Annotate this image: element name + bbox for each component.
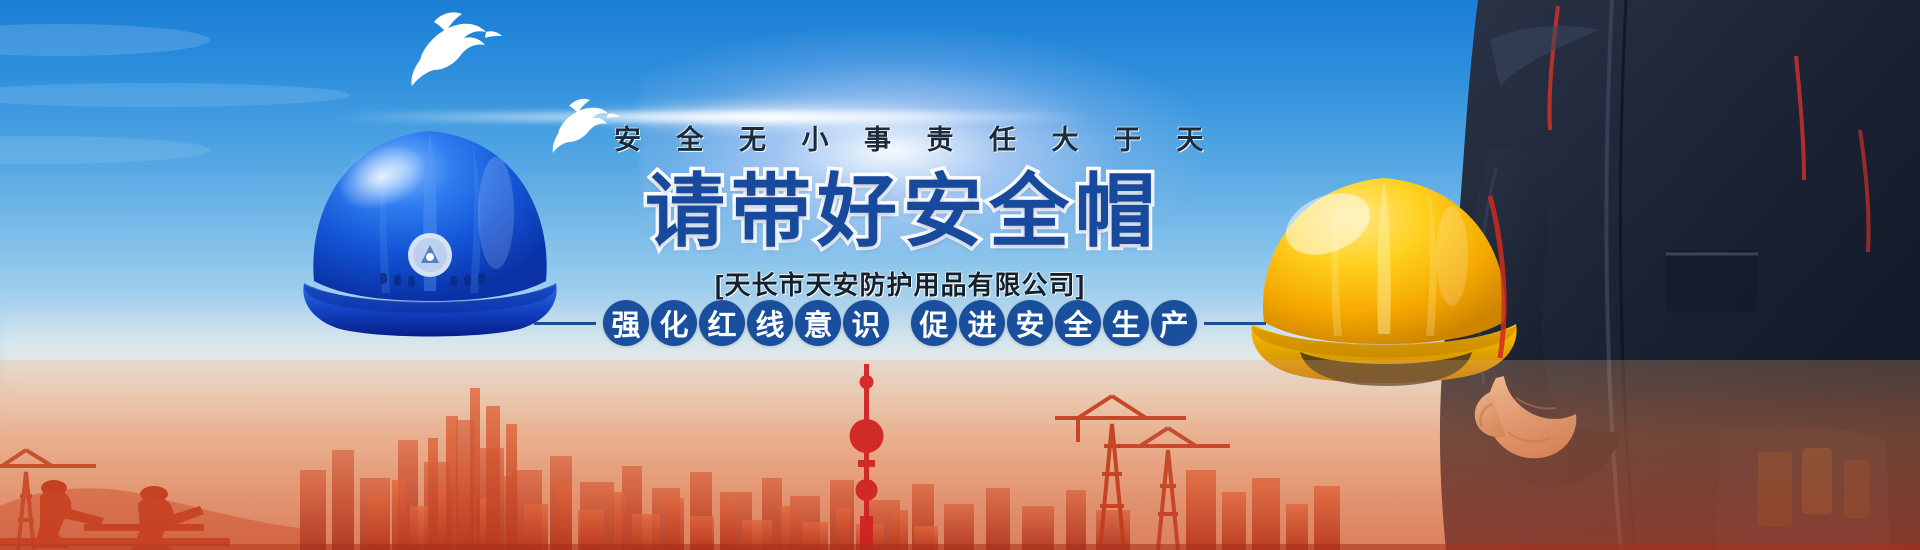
tagline: 安 全 无 小 事 责 任 大 于 天 <box>600 118 1200 157</box>
headline-block: 安 全 无 小 事 责 任 大 于 天 请带好安全帽 [天长市天安防护用品有限公… <box>600 118 1200 302</box>
slogan-chip: 产 <box>1151 300 1197 346</box>
slogan-rule-left <box>534 322 596 325</box>
main-headline: 请带好安全帽 <box>600 171 1200 253</box>
slogan-chip: 红 <box>699 300 745 346</box>
slogan-rule-right <box>1204 322 1266 325</box>
company-name: [天长市天安防护用品有限公司] <box>600 265 1200 302</box>
bottom-slogan: 强 化 红 线 意 识 促 进 安 全 生 产 <box>520 300 1280 346</box>
slogan-chip: 化 <box>651 300 697 346</box>
slogan-group-2: 促 进 安 全 生 产 <box>910 300 1198 346</box>
slogan-chip: 意 <box>795 300 841 346</box>
slogan-chip: 识 <box>843 300 889 346</box>
terrain-left <box>0 410 300 550</box>
dove-icon <box>400 8 510 88</box>
helmet-badge <box>408 233 452 277</box>
slogan-chip: 生 <box>1103 300 1149 346</box>
slogan-chip: 安 <box>1007 300 1053 346</box>
slogan-chip: 全 <box>1055 300 1101 346</box>
safety-banner: 安 全 无 小 事 责 任 大 于 天 请带好安全帽 [天长市天安防护用品有限公… <box>0 0 1920 550</box>
slogan-chip: 促 <box>911 300 957 346</box>
slogan-chip: 强 <box>603 300 649 346</box>
slogan-chip: 线 <box>747 300 793 346</box>
slogan-chip: 进 <box>959 300 1005 346</box>
slogan-group-1: 强 化 红 线 意 识 <box>602 300 890 346</box>
